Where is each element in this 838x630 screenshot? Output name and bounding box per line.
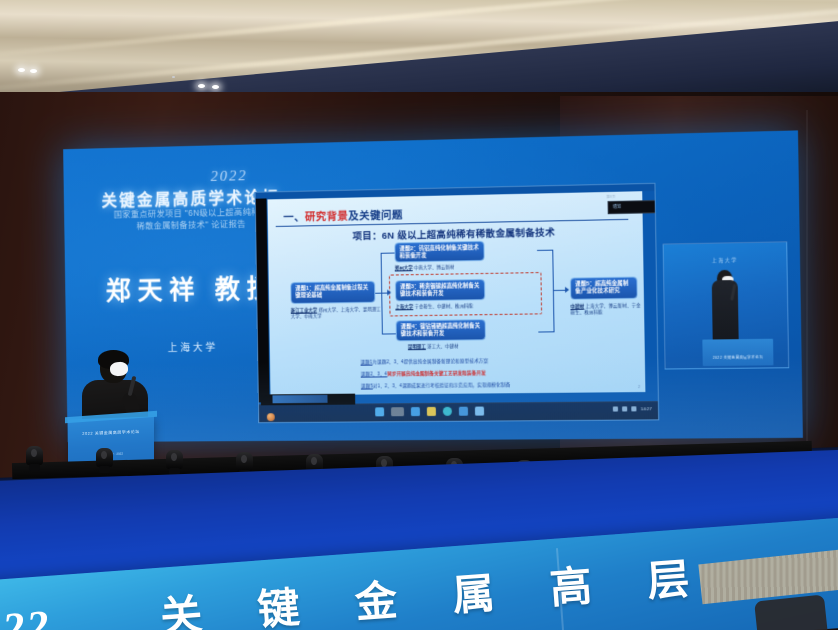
moving-head-light xyxy=(26,446,43,465)
topic-box-2: 课题2：钨铝高纯化制备关键技术和装备开发 xyxy=(394,241,484,263)
light-base xyxy=(99,466,110,473)
connector-line xyxy=(537,250,553,251)
moving-head-light xyxy=(236,452,253,471)
slide-tiny-header: 第8页 xyxy=(606,194,615,199)
topic-4-other-universities: 浙工大、中建材 xyxy=(426,344,459,349)
arrow-head xyxy=(565,287,569,293)
topic-3-other-universities: 宁金粉生、中建材、株洲科能 xyxy=(413,303,473,309)
section-title-rest: 及关键问题 xyxy=(348,209,403,222)
section-number: 一、 xyxy=(283,212,305,224)
downlight xyxy=(212,85,219,89)
floating-toolbar-overlay[interactable]: 通知 xyxy=(608,199,660,214)
connector-line xyxy=(538,331,554,332)
moving-head-light xyxy=(96,448,113,467)
accent-light xyxy=(172,76,175,78)
window-control-chip[interactable] xyxy=(656,192,660,197)
topic-1-universities: 浙江工业大学 郑州大学、上海大学、昆明理工大学、中南大学 xyxy=(291,307,382,321)
connector-line xyxy=(381,253,395,254)
speaker-video-feed: 上海大学 2022 关键金属高层学术论坛 xyxy=(663,241,790,369)
downlight xyxy=(18,68,25,72)
podium-title: 2022 关键金属高层学术论坛 xyxy=(68,428,154,437)
audience-seat xyxy=(754,594,828,630)
downlight xyxy=(30,69,37,73)
section-title-highlight: 研究背景 xyxy=(305,211,349,224)
slide-section-title: 一、研究背景及关键问题 xyxy=(283,207,403,224)
moving-head-light xyxy=(166,450,183,469)
connector-line xyxy=(382,333,396,334)
floating-toolbar-label: 通知 xyxy=(613,204,622,210)
topic-4-universities: 昆明理工 浙工大、中建材 xyxy=(408,343,518,351)
topic-1-lead-university: 浙江工业大学 xyxy=(291,308,318,313)
topic-2-lead-university: 郑州大学 xyxy=(395,265,413,270)
topic-5-universities: 中建材 上海大学、博云新材、宁金粉生、株洲科能 xyxy=(570,303,644,317)
topic-box-3: 课题3：稀贵铟镓超高纯化制备关键技术和装备开发 xyxy=(395,279,485,301)
topic-5-lead-university: 中建材 xyxy=(570,304,584,309)
downlight xyxy=(198,84,205,88)
video-feed-label: 上海大学 xyxy=(664,257,787,265)
conference-hall-photo: 2022 关键金属高质学术论坛 国家重点研发项目 "6N级以上超高纯稀有 稀散金… xyxy=(0,0,838,630)
light-base xyxy=(29,464,40,471)
topic-box-5: 课题5：超高纯金属制备产业化技术研究 xyxy=(570,276,638,299)
topic-4-lead-university: 昆明理工 xyxy=(408,344,426,349)
topic-2-universities: 郑州大学 中南大学、博云新材 xyxy=(395,264,505,272)
wall-seam xyxy=(806,110,808,490)
banner-year: 2022 xyxy=(0,600,52,630)
topic-box-4: 课题4：镍钴锗硒超高纯化制备关键技术和装备开发 xyxy=(396,319,486,341)
topic-box-1: 课题1：超高纯金属制备过程关键理论基础 xyxy=(290,281,375,304)
topic-2-other-universities: 中南大学、博云新材 xyxy=(413,264,455,270)
topic-3-lead-university: 上海大学 xyxy=(395,304,413,309)
arrow-head xyxy=(387,290,391,296)
window-right-gutter xyxy=(655,190,660,257)
